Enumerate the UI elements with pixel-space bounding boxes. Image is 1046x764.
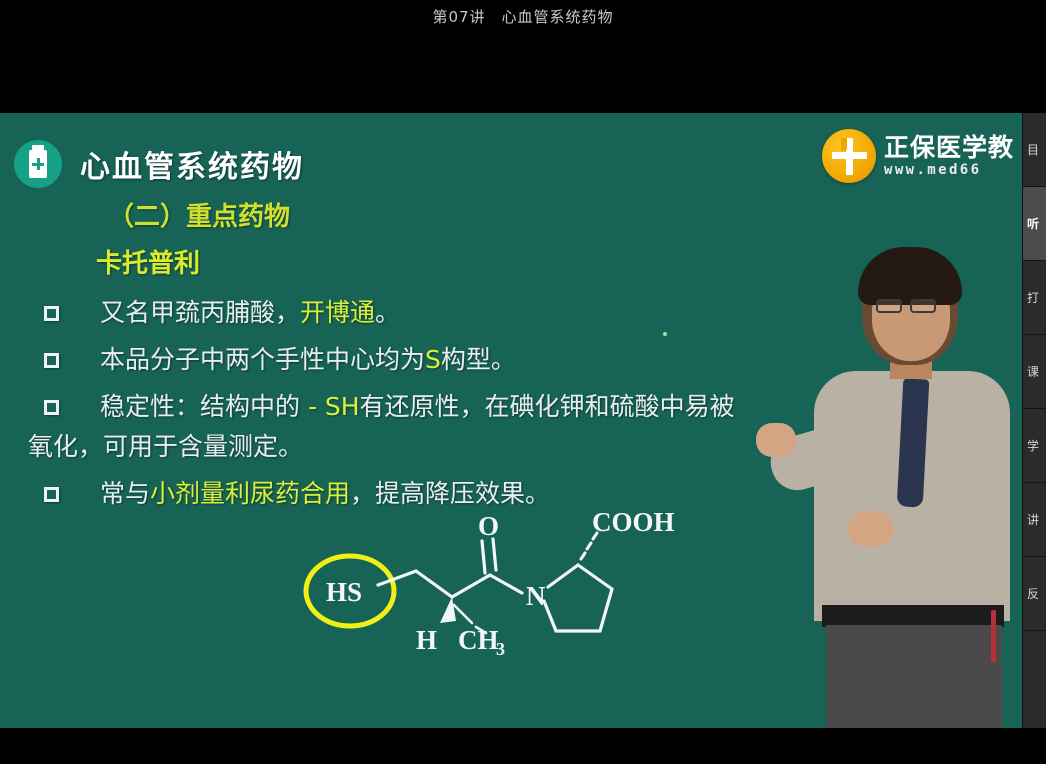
bullet-square-icon: [44, 353, 59, 368]
bullet-square-icon: [44, 306, 59, 321]
label-h: H: [416, 625, 437, 655]
bullet-text: 又名甲巯丙脯酸，开博通。: [100, 297, 400, 329]
bullet-text: 稳定性：结构中的 - SH有还原性，在碘化钾和硫酸中易被: [100, 391, 735, 423]
bullet-item: 常与小剂量利尿药合用，提高降压效果。: [0, 478, 1022, 510]
label-ch3: CH: [458, 625, 499, 655]
medicine-bottle-icon: [14, 140, 62, 188]
brand-logo: 正保医学教 www.med66: [822, 129, 1014, 183]
progress-marker: [991, 610, 996, 662]
bullet-text-part: 又名甲巯丙脯酸，: [100, 298, 300, 327]
bullet-text: 本品分子中两个手性中心均为S构型。: [100, 344, 516, 376]
bullet-text-highlight: - SH: [308, 392, 360, 421]
bullet-item: 本品分子中两个手性中心均为S构型。: [0, 344, 1022, 376]
bullet-text-highlight: S: [425, 345, 441, 374]
label-n: N: [526, 581, 546, 611]
drug-name: 卡托普利: [0, 248, 1022, 281]
sidebar-item-4[interactable]: 学: [1023, 409, 1046, 483]
bullet-continuation-text: 氧化，可用于含量测定。: [0, 431, 1022, 463]
video-stage[interactable]: 正保医学教 www.med66 心血管系统药物 （二）重点药物 卡托普利: [0, 113, 1046, 728]
lecture-slide: 正保医学教 www.med66 心血管系统药物 （二）重点药物 卡托普利: [0, 113, 1022, 728]
bullet-text-part: 常与: [100, 479, 150, 508]
sidebar-item-1[interactable]: 听: [1023, 187, 1046, 261]
captopril-structure: HS O N COOH H CH 3: [300, 513, 700, 673]
label-o: O: [478, 513, 499, 541]
label-hs: HS: [326, 577, 362, 607]
bullet-text-highlight: 小剂量利尿药合用: [150, 479, 350, 508]
bullet-text-highlight: 开博通: [300, 298, 375, 327]
lecture-title: 第07讲 心血管系统药物: [0, 6, 1046, 27]
sidebar-item-2[interactable]: 打: [1023, 261, 1046, 335]
slide-body: （二）重点药物 卡托普利 又名甲巯丙脯酸，开博通。 本品分子中两个手性中心均为S…: [0, 201, 1022, 510]
bullet-item: 又名甲巯丙脯酸，开博通。: [0, 297, 1022, 329]
sidebar-item-3[interactable]: 课: [1023, 335, 1046, 409]
bullet-text-part: 本品分子中两个手性中心均为: [100, 345, 425, 374]
bullet-text: 常与小剂量利尿药合用，提高降压效果。: [100, 478, 550, 510]
pointer-dot: [663, 332, 667, 336]
label-cooh: COOH: [592, 513, 675, 537]
bottom-black-bar: [0, 728, 1046, 764]
bullet-text-part: 稳定性：结构中的: [100, 392, 308, 421]
top-title-bar: 第07讲 心血管系统药物: [0, 0, 1046, 113]
sidebar-item-0[interactable]: 目: [1023, 113, 1046, 187]
right-sidebar[interactable]: 目 听 打 课 学 讲 反: [1022, 113, 1046, 728]
slide-heading: 心血管系统药物: [80, 142, 304, 186]
bullet-text-part: 有还原性，在碘化钾和硫酸中易被: [360, 392, 735, 421]
bullet-text-part: 构型。: [441, 345, 516, 374]
section-label: （二）重点药物: [0, 201, 1022, 234]
label-ch3-sub: 3: [496, 639, 505, 659]
bullet-square-icon: [44, 400, 59, 415]
bullet-text-part: 。: [375, 298, 400, 327]
bullet-item: 稳定性：结构中的 - SH有还原性，在碘化钾和硫酸中易被: [0, 391, 1022, 423]
sidebar-item-5[interactable]: 讲: [1023, 483, 1046, 557]
bullet-square-icon: [44, 487, 59, 502]
brand-name: 正保医学教: [884, 135, 1014, 161]
sidebar-item-6[interactable]: 反: [1023, 557, 1046, 631]
cross-circle-logo-icon: [822, 129, 876, 183]
brand-url: www.med66: [884, 163, 1014, 178]
player-window: 第07讲 心血管系统药物 正保医学教 www.med66: [0, 0, 1046, 764]
slide-heading-row: 心血管系统药物: [14, 140, 304, 188]
bullet-text-part: ，提高降压效果。: [350, 479, 550, 508]
